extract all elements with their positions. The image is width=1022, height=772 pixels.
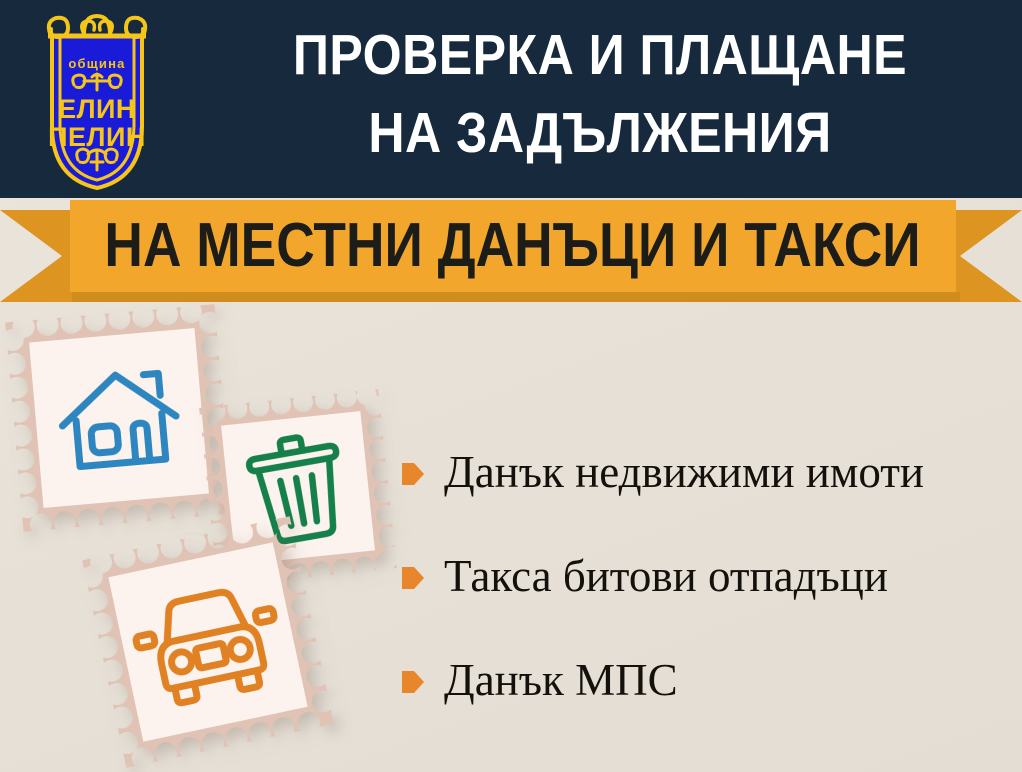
list-item-label: Данък недвижими имоти [444, 447, 924, 497]
svg-text:ЕЛИН: ЕЛИН [58, 94, 136, 124]
arrow-bullet-icon [402, 461, 424, 487]
ribbon-main: НА МЕСТНИ ДАНЪЦИ И ТАКСИ [70, 200, 956, 292]
page-title-line2: НА ЗАДЪЛЖЕНИЯ [235, 94, 965, 172]
list-item-label: Такса битови отпадъци [444, 551, 888, 601]
stamp-card-vehicle [82, 516, 333, 767]
stamp-card-property [5, 304, 233, 532]
list-item-label: Данък МПС [444, 655, 678, 705]
poster-canvas: община ЕЛИН ПЕЛИН ПРОВЕРКА И ПЛАЩ [0, 0, 1022, 772]
list-item[interactable]: Такса битови отпадъци [402, 524, 1014, 628]
municipality-crest: община ЕЛИН ПЕЛИН [22, 8, 172, 193]
list-item[interactable]: Данък МПС [402, 628, 1014, 732]
arrow-bullet-icon [402, 565, 424, 591]
ribbon-label: НА МЕСТНИ ДАНЪЦИ И ТАКСИ [105, 215, 921, 277]
list-item[interactable]: Данък недвижими имоти [402, 420, 1014, 524]
svg-text:ПЕЛИН: ПЕЛИН [48, 122, 146, 152]
svg-text:община: община [68, 56, 125, 71]
page-title: ПРОВЕРКА И ПЛАЩАНЕ НА ЗАДЪЛЖЕНИЯ [235, 16, 965, 172]
arrow-bullet-icon [402, 669, 424, 695]
page-title-line1: ПРОВЕРКА И ПЛАЩАНЕ [293, 23, 907, 87]
tax-type-list: Данък недвижими имоти Такса битови отпад… [402, 420, 1014, 732]
ribbon-shadow [72, 292, 960, 302]
ribbon-banner: НА МЕСТНИ ДАНЪЦИ И ТАКСИ [0, 196, 1022, 306]
